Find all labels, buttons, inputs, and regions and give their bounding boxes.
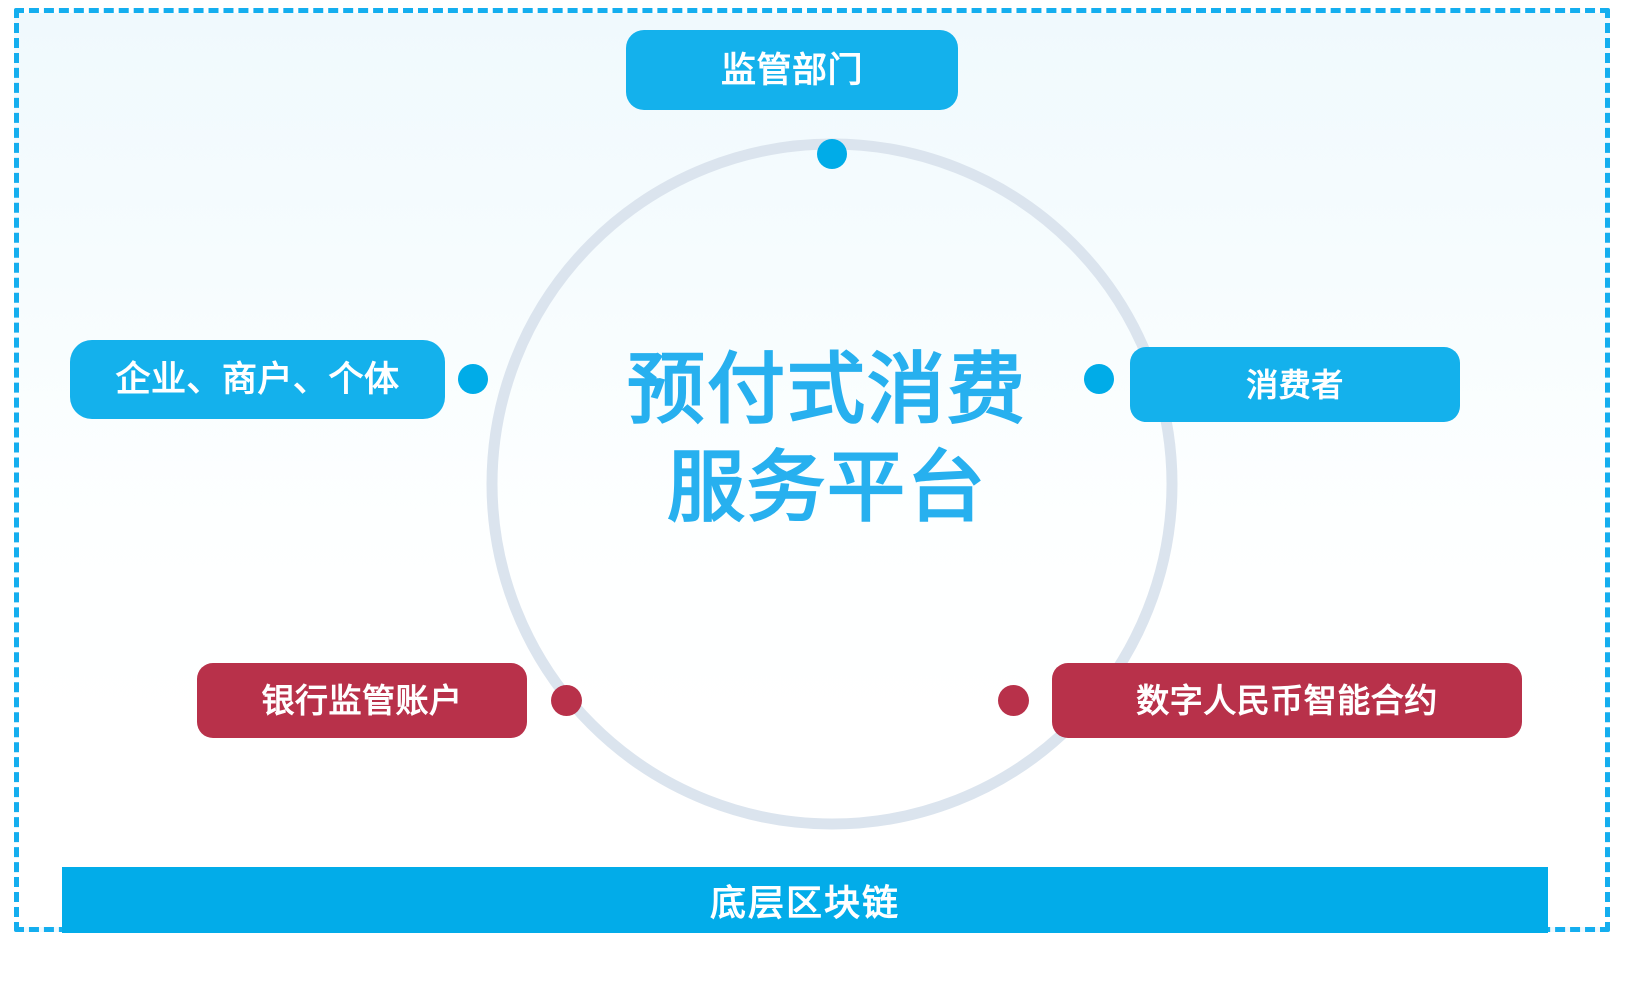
node-merchants-label: 企业、商户、个体: [115, 362, 399, 397]
node-regulator[interactable]: 监管部门: [626, 30, 958, 110]
connector-dot-bank-account: [551, 685, 582, 716]
foundation-blockchain-bar[interactable]: 底层区块链: [62, 867, 1548, 933]
diagram-canvas: 监管部门 企业、商户、个体 消费者 银行监管账户 数字人民币智能合约 预付式消费…: [0, 0, 1646, 1000]
node-consumers[interactable]: 消费者: [1130, 347, 1460, 422]
node-regulator-label: 监管部门: [721, 53, 863, 88]
node-bank-account-label: 银行监管账户: [262, 684, 463, 717]
connector-dot-smart-contract: [998, 685, 1029, 716]
node-consumers-label: 消费者: [1246, 369, 1344, 401]
foundation-blockchain-label: 底层区块链: [710, 874, 900, 926]
node-smart-contract[interactable]: 数字人民币智能合约: [1052, 663, 1522, 738]
center-platform-title: 预付式消费 服务平台: [527, 340, 1127, 537]
node-smart-contract-label: 数字人民币智能合约: [1136, 684, 1438, 717]
connector-dot-regulator: [817, 139, 847, 169]
node-bank-account[interactable]: 银行监管账户: [197, 663, 527, 738]
center-title-line-1: 预付式消费: [527, 340, 1127, 438]
connector-dot-merchants: [458, 364, 488, 394]
center-title-line-2: 服务平台: [527, 438, 1127, 536]
node-merchants[interactable]: 企业、商户、个体: [70, 340, 445, 419]
